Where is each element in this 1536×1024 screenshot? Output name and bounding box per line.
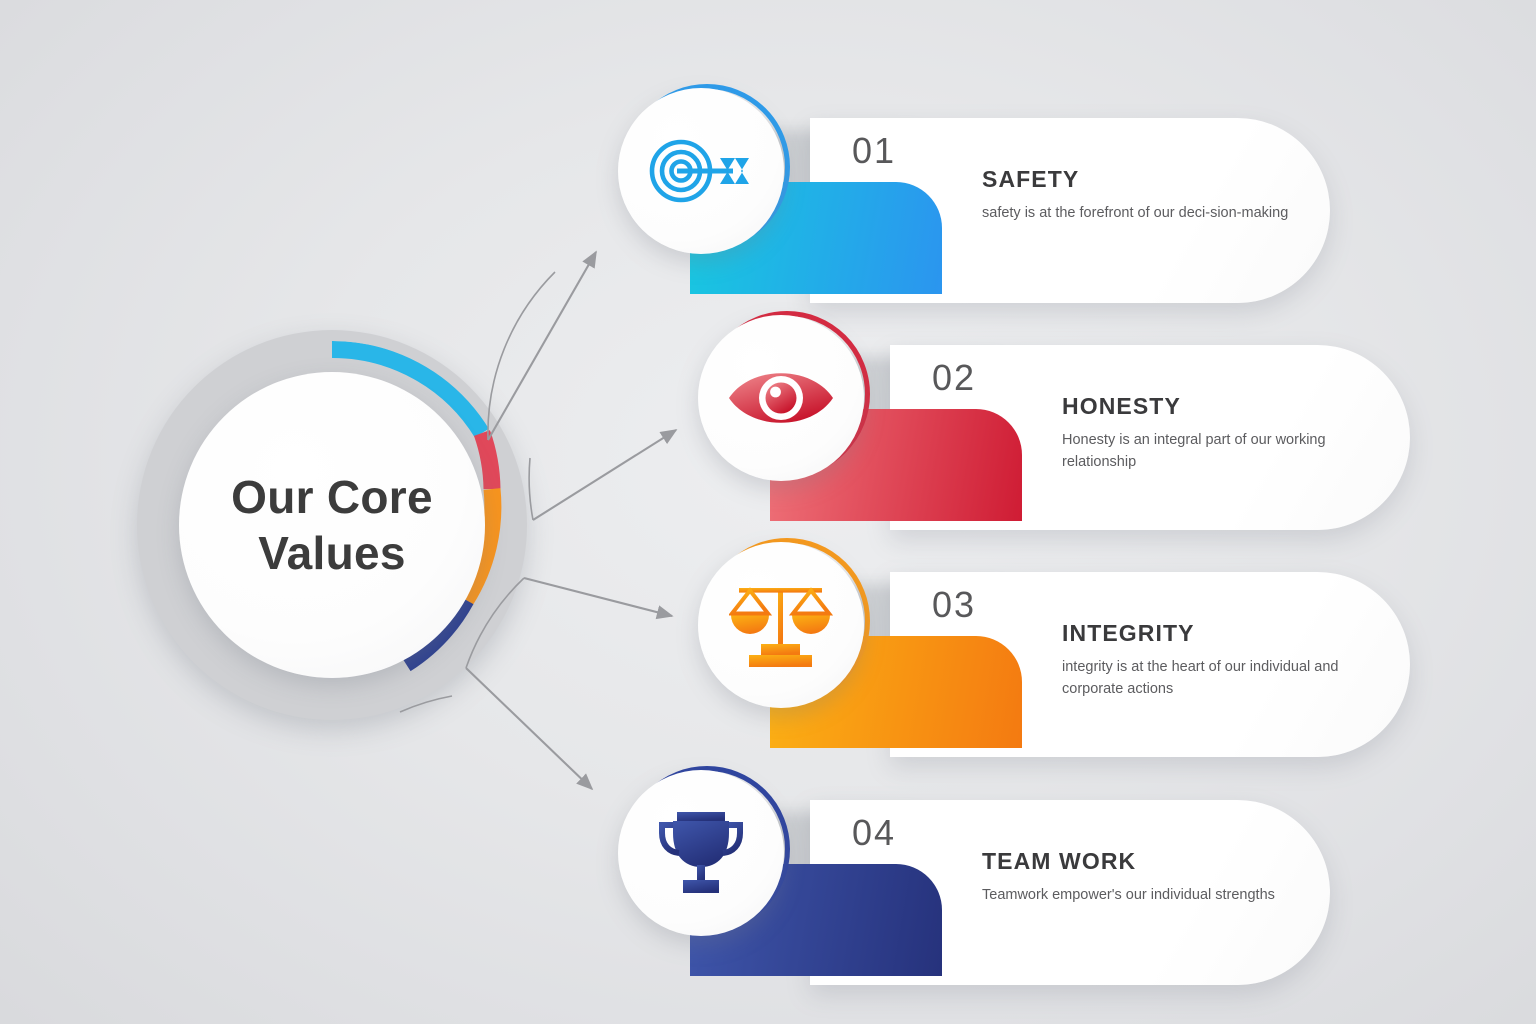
trophy-icon (655, 809, 747, 897)
card-title: HONESTY (1062, 393, 1392, 420)
hub-title-line-2: Values (258, 527, 406, 579)
value-card-safety[interactable]: 01 SAFETY safety is at the forefront of … (690, 118, 1330, 303)
card-icon-medallion[interactable] (618, 80, 794, 256)
eye-icon (725, 363, 837, 433)
card-number: 03 (932, 584, 976, 626)
medallion-disc (618, 770, 784, 936)
card-number: 04 (852, 812, 896, 854)
card-description: safety is at the forefront of our deci-s… (982, 202, 1312, 224)
card-text-block: HONESTY Honesty is an integral part of o… (1062, 393, 1392, 474)
card-title: TEAM WORK (982, 848, 1312, 875)
card-text-block: INTEGRITY integrity is at the heart of o… (1062, 620, 1392, 701)
hub-title-line-1: Our Core (231, 471, 433, 523)
connector-arrow-3 (524, 578, 672, 616)
card-icon-medallion[interactable] (618, 762, 794, 938)
hub-inner-disc: Our Core Values (179, 372, 485, 678)
central-hub: Our Core Values (137, 330, 543, 720)
card-description: integrity is at the heart of our individ… (1062, 656, 1392, 701)
hub-title: Our Core Values (231, 469, 433, 581)
card-number: 01 (852, 130, 896, 172)
card-text-block: SAFETY safety is at the forefront of our… (982, 166, 1312, 224)
medallion-disc (698, 542, 864, 708)
medallion-disc (698, 315, 864, 481)
card-title: INTEGRITY (1062, 620, 1392, 647)
value-card-honesty[interactable]: 02 HONESTY Honesty is an integral part o… (770, 345, 1410, 530)
card-title: SAFETY (982, 166, 1312, 193)
card-description: Honesty is an integral part of our worki… (1062, 429, 1392, 474)
value-card-team-work[interactable]: 04 TEAM WORK Teamwork empower's our indi… (690, 800, 1330, 985)
value-card-integrity[interactable]: 03 INTEGRITY integrity is at the heart o… (770, 572, 1410, 757)
card-icon-medallion[interactable] (698, 307, 874, 483)
balance-scales-icon (729, 582, 833, 668)
card-description: Teamwork empower's our individual streng… (982, 884, 1312, 906)
medallion-disc (618, 88, 784, 254)
card-text-block: TEAM WORK Teamwork empower's our individ… (982, 848, 1312, 906)
connector-arrow-2 (533, 430, 676, 520)
target-arrow-icon (647, 134, 755, 208)
card-number: 02 (932, 357, 976, 399)
card-icon-medallion[interactable] (698, 534, 874, 710)
